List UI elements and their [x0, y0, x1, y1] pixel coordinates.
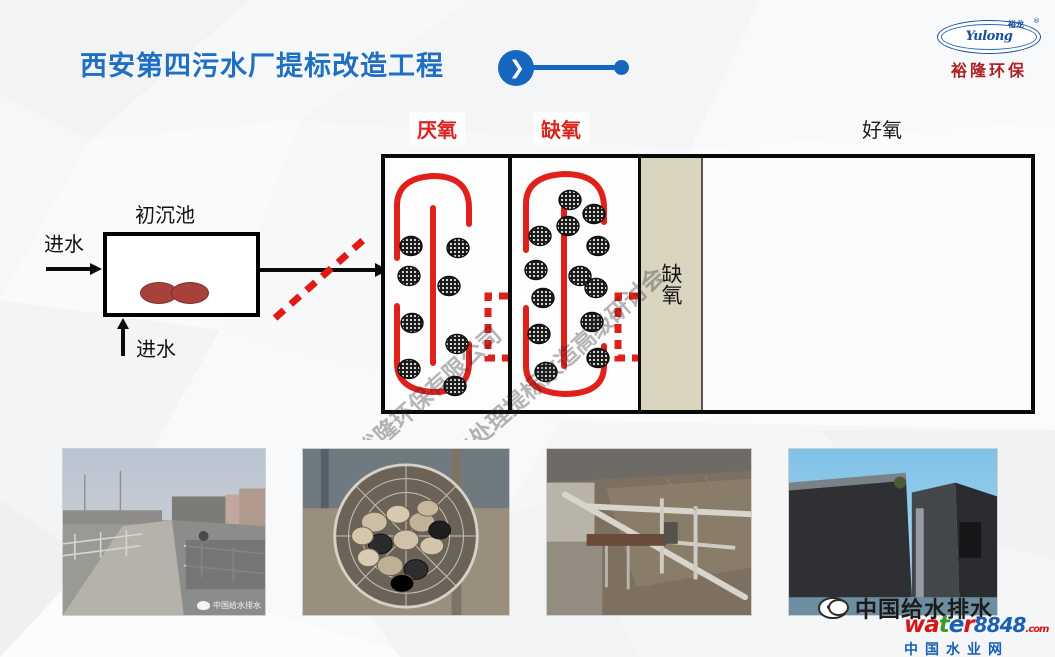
anoxic-strip-label: 缺氧 — [660, 263, 682, 305]
header-arrow-graphic: ❯ — [498, 50, 638, 86]
anaerobic-cell-graphics — [385, 158, 508, 410]
water-letter-t: t — [939, 612, 949, 638]
reactor-tank-diagram: 缺氧 — [381, 154, 1035, 414]
water-wordmark: water8848.com — [904, 614, 1052, 637]
bypass-dashed-line — [270, 228, 380, 323]
biofilm-carrier-image — [303, 449, 509, 615]
label-anoxic-zone: 缺氧 — [533, 112, 589, 145]
label-aerobic-zone: 好氧 — [862, 114, 902, 143]
photo-watermark-text: 中国给水排水 — [213, 600, 261, 611]
primary-tank-label: 初沉池 — [135, 199, 195, 228]
water-letter-a: a — [924, 612, 939, 638]
wechat-eye-left — [827, 605, 831, 609]
water-cn-name: 中国水业网 — [904, 639, 1052, 657]
water-letter-r: r — [963, 612, 973, 638]
wechat-eye-right — [836, 605, 840, 609]
equipment-housing-photo — [788, 448, 998, 616]
aeration-basin-photo — [546, 448, 752, 616]
logo-company-name: 裕隆环保 — [933, 57, 1045, 81]
anoxic-strip-zone: 缺氧 — [638, 158, 701, 410]
influent-bottom-label: 进水 — [136, 333, 176, 362]
registered-mark-icon: ® — [1033, 17, 1040, 25]
influent-bottom-arrow-icon — [116, 318, 130, 356]
company-logo: 裕龙 ® Yulong 裕隆环保 — [933, 20, 1045, 82]
water-letter-e: e — [949, 612, 964, 638]
equipment-housing-image — [789, 449, 997, 615]
photo-watermark: 中国给水排水 — [197, 600, 261, 611]
wechat-logo-icon — [818, 597, 848, 619]
water-number: 8848 — [974, 613, 1026, 637]
arrow-connector-line — [531, 65, 623, 70]
primary-sedimentation-tank — [103, 232, 260, 317]
water8848-brand: water8848.com 中国水业网 — [904, 614, 1052, 657]
water-letter-w: w — [904, 612, 924, 638]
logo-script-text: Yulong — [938, 29, 1040, 44]
anoxic-cell — [508, 158, 638, 410]
arrow-end-dot — [614, 60, 629, 75]
wechat-icon — [197, 601, 210, 610]
anaerobic-cell — [385, 158, 508, 410]
biofilm-carrier-basket-photo — [302, 448, 510, 616]
label-anaerobic-zone: 厌氧 — [409, 112, 465, 145]
slide-canvas: 西安第四污水厂提标改造工程 ❯ 裕龙 ® Yulong 裕隆环保 厌氧 缺氧 好… — [0, 0, 1055, 657]
chevron-right-icon: ❯ — [498, 50, 534, 86]
sludge-blob-right — [171, 282, 209, 304]
influent-left-label: 进水 — [44, 228, 84, 257]
chevron-glyph: ❯ — [509, 59, 525, 78]
anoxic-cell-graphics — [512, 158, 638, 410]
aeration-basin-image — [547, 449, 751, 615]
water-tld: .com — [1025, 624, 1048, 635]
plant-overview-image — [63, 449, 265, 615]
aerobic-cell — [701, 158, 1031, 410]
influent-left-arrow-icon — [46, 262, 102, 276]
page-title: 西安第四污水厂提标改造工程 — [80, 44, 444, 83]
plant-overview-photo: 中国给水排水 — [62, 448, 266, 616]
logo-oval-emblem: 裕龙 ® Yulong — [937, 20, 1041, 54]
